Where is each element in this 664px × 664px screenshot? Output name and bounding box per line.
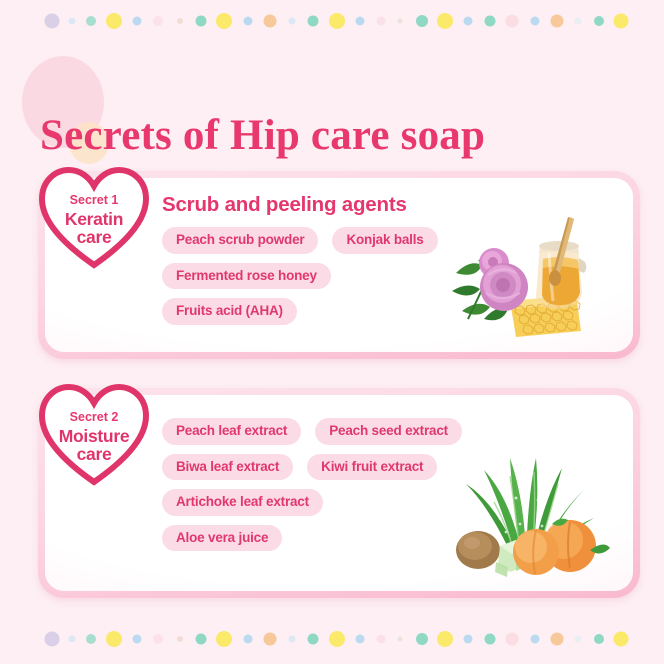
decorative-dot [45, 14, 60, 29]
decorative-dot [575, 636, 582, 643]
decorative-dot [416, 15, 428, 27]
ingredient-tag-list-1: Peach scrub powder Konjak balls Fermente… [162, 227, 462, 325]
heart-name-label: Moisture care [59, 427, 130, 463]
decorative-dot [485, 16, 496, 27]
decorative-dot [329, 631, 345, 647]
decorative-dot [437, 13, 453, 29]
decorative-dot [416, 633, 428, 645]
decorative-dot [196, 16, 207, 27]
decorative-dot [69, 18, 76, 25]
ingredient-tag: Peach seed extract [315, 418, 462, 445]
decorative-dot [308, 16, 319, 27]
card-heading-scrub-peeling: Scrub and peeling agents [162, 193, 462, 217]
heart-name-line-2: care [77, 227, 112, 247]
decorative-dot-border-top [0, 8, 664, 34]
decorative-dot [244, 635, 253, 644]
decorative-dot [594, 16, 604, 26]
decorative-dot [216, 13, 232, 29]
decorative-dot [551, 633, 564, 646]
heart-name-line-1: Moisture [59, 426, 130, 446]
heart-name-label: Keratin care [65, 210, 123, 246]
decorative-dot [308, 634, 319, 645]
tag-row: Peach scrub powder Konjak balls [162, 227, 462, 254]
decorative-dot [264, 633, 277, 646]
decorative-dot [329, 13, 345, 29]
decorative-dot-border-bottom [0, 626, 664, 652]
ingredient-tag: Peach leaf extract [162, 418, 301, 445]
decorative-dot [614, 632, 629, 647]
decorative-dot [196, 634, 207, 645]
decorative-dot [485, 634, 496, 645]
decorative-dot [86, 16, 96, 26]
ingredient-tag: Artichoke leaf extract [162, 489, 323, 516]
decorative-dot [398, 637, 403, 642]
aloe-vera-kiwi-peach-image [442, 428, 610, 580]
decorative-dot [464, 17, 473, 26]
heart-badge-text: Secret 1 Keratin care [38, 166, 150, 270]
decorative-dot [86, 634, 96, 644]
decorative-dot [106, 13, 122, 29]
ingredient-tag: Biwa leaf extract [162, 454, 293, 481]
ingredient-tag: Konjak balls [332, 227, 437, 254]
ingredient-tag: Aloe vera juice [162, 525, 282, 552]
pink-roses [479, 248, 528, 311]
decorative-dot [264, 15, 277, 28]
decorative-dot [153, 634, 163, 644]
heart-secret-label: Secret 1 [70, 194, 119, 207]
decorative-dot [289, 636, 296, 643]
decorative-dot [216, 631, 232, 647]
decorative-dot [506, 633, 519, 646]
ingredient-tag: Fermented rose honey [162, 263, 331, 290]
kiwi-fruit [456, 531, 500, 569]
heart-name-line-1: Keratin [65, 209, 123, 229]
decorative-dot [614, 14, 629, 29]
decorative-dot [531, 635, 540, 644]
decorative-dot [153, 16, 163, 26]
decorative-dot [575, 18, 582, 25]
decorative-dot [437, 631, 453, 647]
decorative-dot [377, 17, 386, 26]
decorative-dot [356, 17, 365, 26]
decorative-dot [289, 18, 296, 25]
card-content-keratin-care: Scrub and peeling agents Peach scrub pow… [162, 193, 462, 334]
decorative-dot [398, 19, 403, 24]
decorative-dot [177, 636, 183, 642]
tag-row: Fruits acid (AHA) [162, 298, 462, 325]
decorative-dot [594, 634, 604, 644]
decorative-dot [45, 632, 60, 647]
decorative-dot [106, 631, 122, 647]
decorative-dot [531, 17, 540, 26]
heart-badge-secret-2: Secret 2 Moisture care [38, 383, 150, 487]
heart-secret-label: Secret 2 [70, 411, 119, 424]
decorative-dot [356, 635, 365, 644]
ingredient-tag: Peach scrub powder [162, 227, 318, 254]
decorative-dot [133, 17, 142, 26]
decorative-dot [133, 635, 142, 644]
decorative-dot [177, 18, 183, 24]
decorative-dot [69, 636, 76, 643]
ingredient-tag: Kiwi fruit extract [307, 454, 437, 481]
heart-name-line-2: care [77, 444, 112, 464]
tag-row: Fermented rose honey [162, 263, 462, 290]
page-title: Secrets of Hip care soap [40, 111, 485, 160]
honey-jar-rose-honeycomb-image [448, 215, 598, 343]
decorative-dot [244, 17, 253, 26]
decorative-dot [377, 635, 386, 644]
heart-badge-secret-1: Secret 1 Keratin care [38, 166, 150, 270]
decorative-dot [506, 15, 519, 28]
decorative-dot [464, 635, 473, 644]
heart-badge-text: Secret 2 Moisture care [38, 383, 150, 487]
decorative-dot [551, 15, 564, 28]
ingredient-tag: Fruits acid (AHA) [162, 298, 297, 325]
